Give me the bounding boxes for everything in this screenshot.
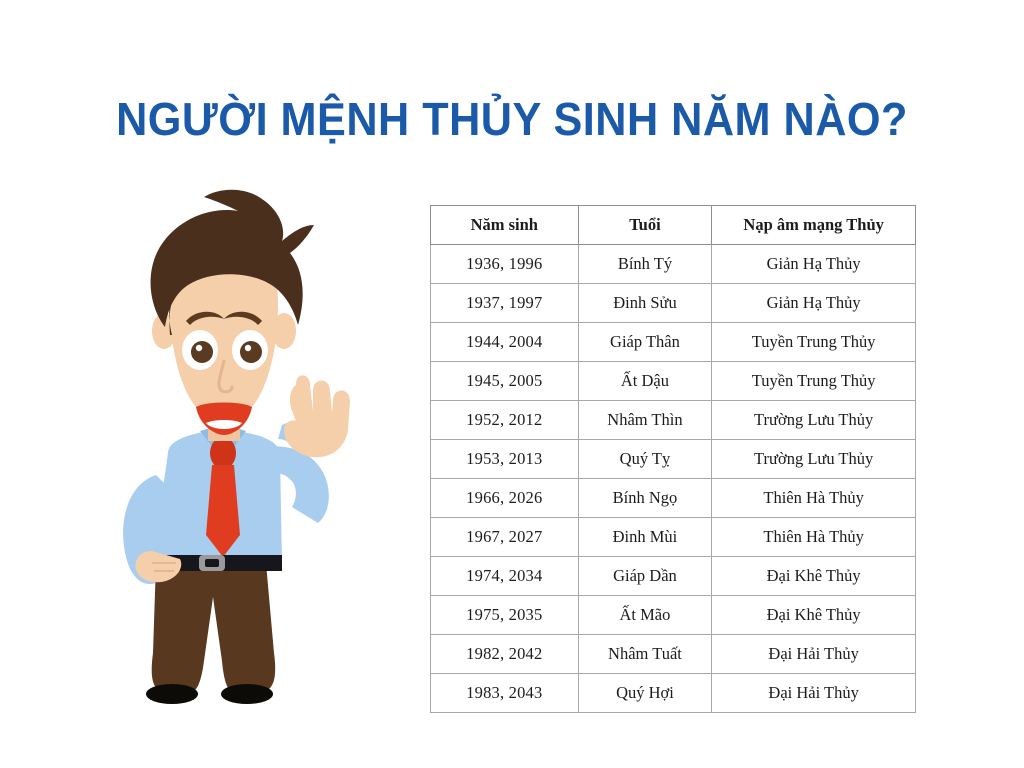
cell-nam-sinh: 1967, 2027 [431,518,579,557]
cell-tuoi: Quý Hợi [578,674,712,713]
cell-nap-am: Thiên Hà Thủy [712,479,916,518]
cell-tuoi: Bính Tý [578,245,712,284]
table-body: 1936, 1996 Bính Tý Giản Hạ Thủy 1937, 19… [431,245,916,713]
cell-nam-sinh: 1945, 2005 [431,362,579,401]
cell-tuoi: Ất Mão [578,596,712,635]
table-row: 1982, 2042 Nhâm Tuất Đại Hải Thủy [431,635,916,674]
table-row: 1952, 2012 Nhâm Thìn Trường Lưu Thủy [431,401,916,440]
cell-nap-am: Đại Khê Thủy [712,557,916,596]
table-row: 1975, 2035 Ất Mão Đại Khê Thủy [431,596,916,635]
cell-nam-sinh: 1982, 2042 [431,635,579,674]
table-header-row: Năm sinh Tuổi Nạp âm mạng Thủy [431,206,916,245]
column-header-nap-am: Nạp âm mạng Thủy [712,206,916,245]
shoes [146,684,273,704]
table-row: 1967, 2027 Đinh Mùi Thiên Hà Thủy [431,518,916,557]
cell-nam-sinh: 1937, 1997 [431,284,579,323]
cell-tuoi: Đinh Sửu [578,284,712,323]
column-header-tuoi: Tuổi [578,206,712,245]
table-row: 1974, 2034 Giáp Dần Đại Khê Thủy [431,557,916,596]
cell-nap-am: Đại Khê Thủy [712,596,916,635]
column-header-nam-sinh: Năm sinh [431,206,579,245]
cell-nap-am: Tuyền Trung Thủy [712,323,916,362]
cell-tuoi: Nhâm Thìn [578,401,712,440]
cell-tuoi: Bính Ngọ [578,479,712,518]
cell-nap-am: Tuyền Trung Thủy [712,362,916,401]
cell-nap-am: Đại Hải Thủy [712,635,916,674]
tie [206,437,240,557]
cell-nam-sinh: 1953, 2013 [431,440,579,479]
table-row: 1944, 2004 Giáp Thân Tuyền Trung Thủy [431,323,916,362]
cell-nam-sinh: 1983, 2043 [431,674,579,713]
cell-tuoi: Giáp Thân [578,323,712,362]
cell-nam-sinh: 1936, 1996 [431,245,579,284]
infographic-page: NGƯỜI MỆNH THỦY SINH NĂM NÀO? [0,0,1024,768]
cell-nam-sinh: 1944, 2004 [431,323,579,362]
cell-tuoi: Quý Tỵ [578,440,712,479]
trousers [152,563,276,693]
cell-tuoi: Đinh Mùi [578,518,712,557]
cell-nam-sinh: 1974, 2034 [431,557,579,596]
cell-tuoi: Giáp Dần [578,557,712,596]
table-row: 1966, 2026 Bính Ngọ Thiên Hà Thủy [431,479,916,518]
water-element-birth-years-table: Năm sinh Tuổi Nạp âm mạng Thủy 1936, 199… [430,205,916,713]
cell-nam-sinh: 1952, 2012 [431,401,579,440]
table-row: 1945, 2005 Ất Dậu Tuyền Trung Thủy [431,362,916,401]
cell-nap-am: Trường Lưu Thủy [712,401,916,440]
cell-tuoi: Nhâm Tuất [578,635,712,674]
zodiac-table-container: Năm sinh Tuổi Nạp âm mạng Thủy 1936, 199… [430,205,916,713]
cartoon-man-illustration [60,185,410,715]
cell-tuoi: Ất Dậu [578,362,712,401]
table-row: 1936, 1996 Bính Tý Giản Hạ Thủy [431,245,916,284]
table-row: 1983, 2043 Quý Hợi Đại Hải Thủy [431,674,916,713]
cell-nam-sinh: 1975, 2035 [431,596,579,635]
cell-nap-am: Giản Hạ Thủy [712,245,916,284]
page-title: NGƯỜI MỆNH THỦY SINH NĂM NÀO? [31,92,994,146]
table-row: 1953, 2013 Quý Tỵ Trường Lưu Thủy [431,440,916,479]
cell-nap-am: Thiên Hà Thủy [712,518,916,557]
cell-nap-am: Giản Hạ Thủy [712,284,916,323]
table-row: 1937, 1997 Đinh Sửu Giản Hạ Thủy [431,284,916,323]
cell-nap-am: Đại Hải Thủy [712,674,916,713]
cell-nap-am: Trường Lưu Thủy [712,440,916,479]
waving-hand [284,375,350,457]
cell-nam-sinh: 1966, 2026 [431,479,579,518]
